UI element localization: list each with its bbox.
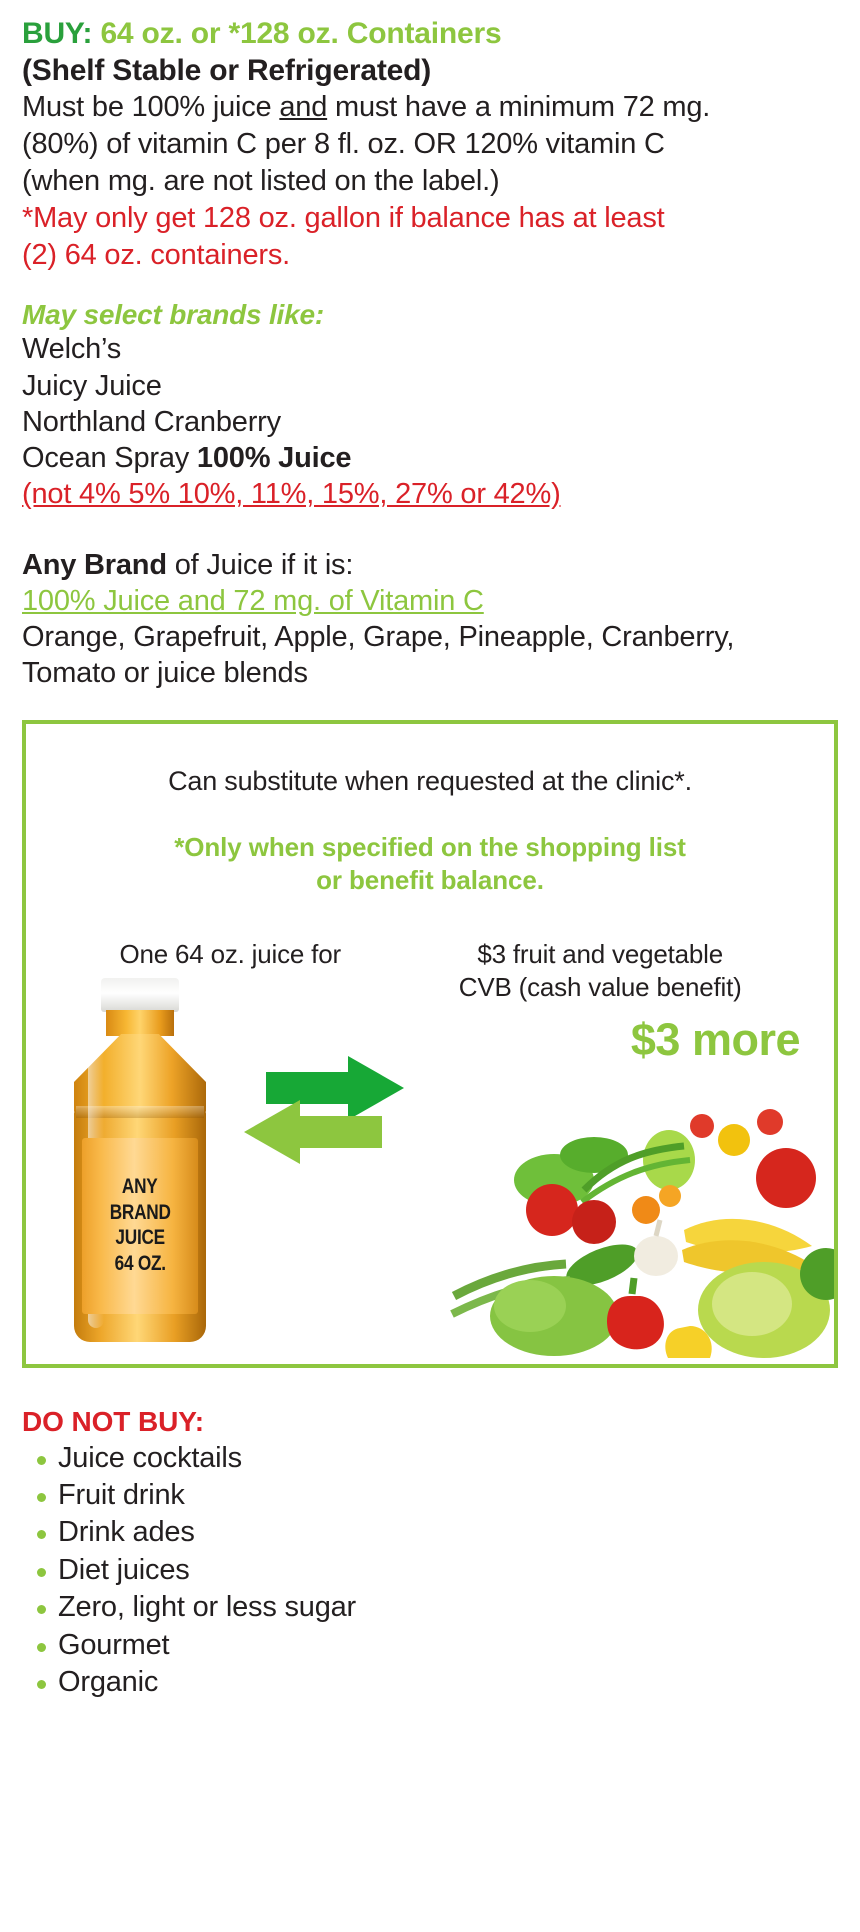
- orange-vegetable: [632, 1196, 660, 1224]
- substitution-note-line-1: *Only when specified on the shopping lis…: [26, 831, 834, 865]
- substitution-note: *Only when specified on the shopping lis…: [26, 831, 834, 899]
- bottle-neck: [106, 1010, 174, 1036]
- red-bell-pepper: [607, 1296, 664, 1349]
- bottle-cap-icon: [101, 978, 179, 1012]
- any-brand-block: Any Brand of Juice if it is: 100% Juice …: [22, 547, 838, 692]
- any-brand-emphasis: Any Brand: [22, 549, 167, 581]
- arrows-svg: [244, 1054, 424, 1174]
- buy-header: BUY: 64 oz. or *128 oz. Containers (Shel…: [22, 0, 838, 89]
- list-item: Zero, light or less sugar: [22, 1589, 838, 1626]
- swap-right-text: $3 fruit and vegetable CVB (cash value b…: [400, 938, 800, 1003]
- swap-right-line-1: $3 fruit and vegetable: [400, 938, 800, 971]
- pepper-stem: [632, 1278, 634, 1294]
- bottle-label-line-2: BRAND: [110, 1202, 171, 1224]
- bottle-label-line-1: ANY: [122, 1176, 158, 1198]
- bottle-label: ANY BRAND JUICE 64 OZ.: [82, 1138, 198, 1314]
- juice-types-line-2: Tomato or juice blends: [22, 655, 838, 691]
- list-item: Juice cocktails: [22, 1440, 838, 1477]
- buy-header-subline: (Shelf Stable or Refrigerated): [22, 53, 838, 90]
- any-brand-vitamin-requirement: 100% Juice and 72 mg. of Vitamin C: [22, 583, 838, 619]
- spacer-after-requirements: [22, 273, 838, 299]
- tomato-left: [526, 1184, 578, 1236]
- bottle-label-line-3: JUICE: [115, 1227, 164, 1249]
- list-item: Diet juices: [22, 1552, 838, 1589]
- ocean-spray-qualifier: 100% Juice: [197, 442, 351, 474]
- lettuce-highlight: [494, 1280, 566, 1332]
- exchange-arrows: [244, 1054, 424, 1174]
- fruits-and-vegetables-illustration: [434, 1060, 834, 1360]
- produce-svg: [434, 1060, 834, 1360]
- gallon-note-line-1: *May only get 128 oz. gallon if balance …: [22, 200, 838, 237]
- orange-vegetable-small: [659, 1185, 681, 1207]
- substitution-note-line-2: or benefit balance.: [26, 864, 834, 898]
- bottle-label-line-4: 64 OZ.: [114, 1253, 165, 1275]
- cabbage-highlight: [712, 1272, 792, 1336]
- brands-heading: May select brands like:: [22, 299, 838, 331]
- requirement-text-a: Must be 100% juice: [22, 91, 279, 123]
- ocean-spray-name: Ocean Spray: [22, 442, 197, 474]
- list-item: Drink ades: [22, 1514, 838, 1551]
- brand-item-welchs: Welch’s: [22, 331, 838, 367]
- list-item: Organic: [22, 1664, 838, 1701]
- substitution-box: Can substitute when requested at the cli…: [22, 720, 838, 1368]
- do-not-buy-list: Juice cocktails Fruit drink Drink ades D…: [22, 1440, 838, 1702]
- tomato-mid: [572, 1200, 616, 1244]
- brand-item-ocean-spray: Ocean Spray 100% Juice: [22, 440, 838, 476]
- brands-block: May select brands like: Welch’s Juicy Ju…: [22, 299, 838, 512]
- swap-right-line-2: CVB (cash value benefit): [400, 971, 800, 1004]
- yellow-tomato: [718, 1124, 750, 1156]
- juice-guide-page: BUY: 64 oz. or *128 oz. Containers (Shel…: [0, 0, 860, 1932]
- brands-percent-exclusion: (not 4% 5% 10%, 11%, 15%, 27% or 42%): [22, 476, 838, 512]
- requirement-and-emphasis: and: [279, 91, 327, 123]
- requirement-line-3: (when mg. are not listed on the label.): [22, 163, 838, 200]
- any-brand-line: Any Brand of Juice if it is:: [22, 547, 838, 583]
- brand-item-northland-cranberry: Northland Cranberry: [22, 404, 838, 440]
- list-item: Fruit drink: [22, 1477, 838, 1514]
- requirements-block: Must be 100% juice and must have a minim…: [22, 89, 838, 273]
- any-brand-rest: of Juice if it is:: [167, 549, 353, 581]
- gallon-note-line-2: (2) 64 oz. containers.: [22, 237, 838, 274]
- spacer-after-brands: [22, 513, 838, 547]
- do-not-buy-block: DO NOT BUY: Juice cocktails Fruit drink …: [22, 1406, 838, 1702]
- substitution-intro: Can substitute when requested at the cli…: [26, 766, 834, 797]
- buy-label: BUY:: [22, 17, 92, 50]
- requirement-line-1: Must be 100% juice and must have a minim…: [22, 89, 838, 126]
- buy-header-line1: BUY: 64 oz. or *128 oz. Containers: [22, 16, 838, 53]
- juice-types-line-1: Orange, Grapefruit, Apple, Grape, Pineap…: [22, 619, 838, 655]
- do-not-buy-heading: DO NOT BUY:: [22, 1406, 838, 1438]
- list-item: Gourmet: [22, 1627, 838, 1664]
- tomato-right: [756, 1148, 816, 1208]
- requirement-text-b: must have a minimum 72 mg.: [327, 91, 710, 123]
- garlic-bulb: [634, 1236, 678, 1276]
- three-dollars-more-label: $3 more: [631, 1014, 800, 1066]
- cherry-tomato-top: [690, 1114, 714, 1138]
- cherry-tomato-small: [757, 1109, 783, 1135]
- buy-container-sizes: 64 oz. or *128 oz. Containers: [92, 17, 501, 50]
- brand-item-juicy-juice: Juicy Juice: [22, 368, 838, 404]
- requirement-line-2: (80%) of vitamin C per 8 fl. oz. OR 120%…: [22, 126, 838, 163]
- juice-bottle-illustration: ANY BRAND JUICE 64 OZ.: [54, 978, 234, 1358]
- garlic-stem: [656, 1220, 660, 1236]
